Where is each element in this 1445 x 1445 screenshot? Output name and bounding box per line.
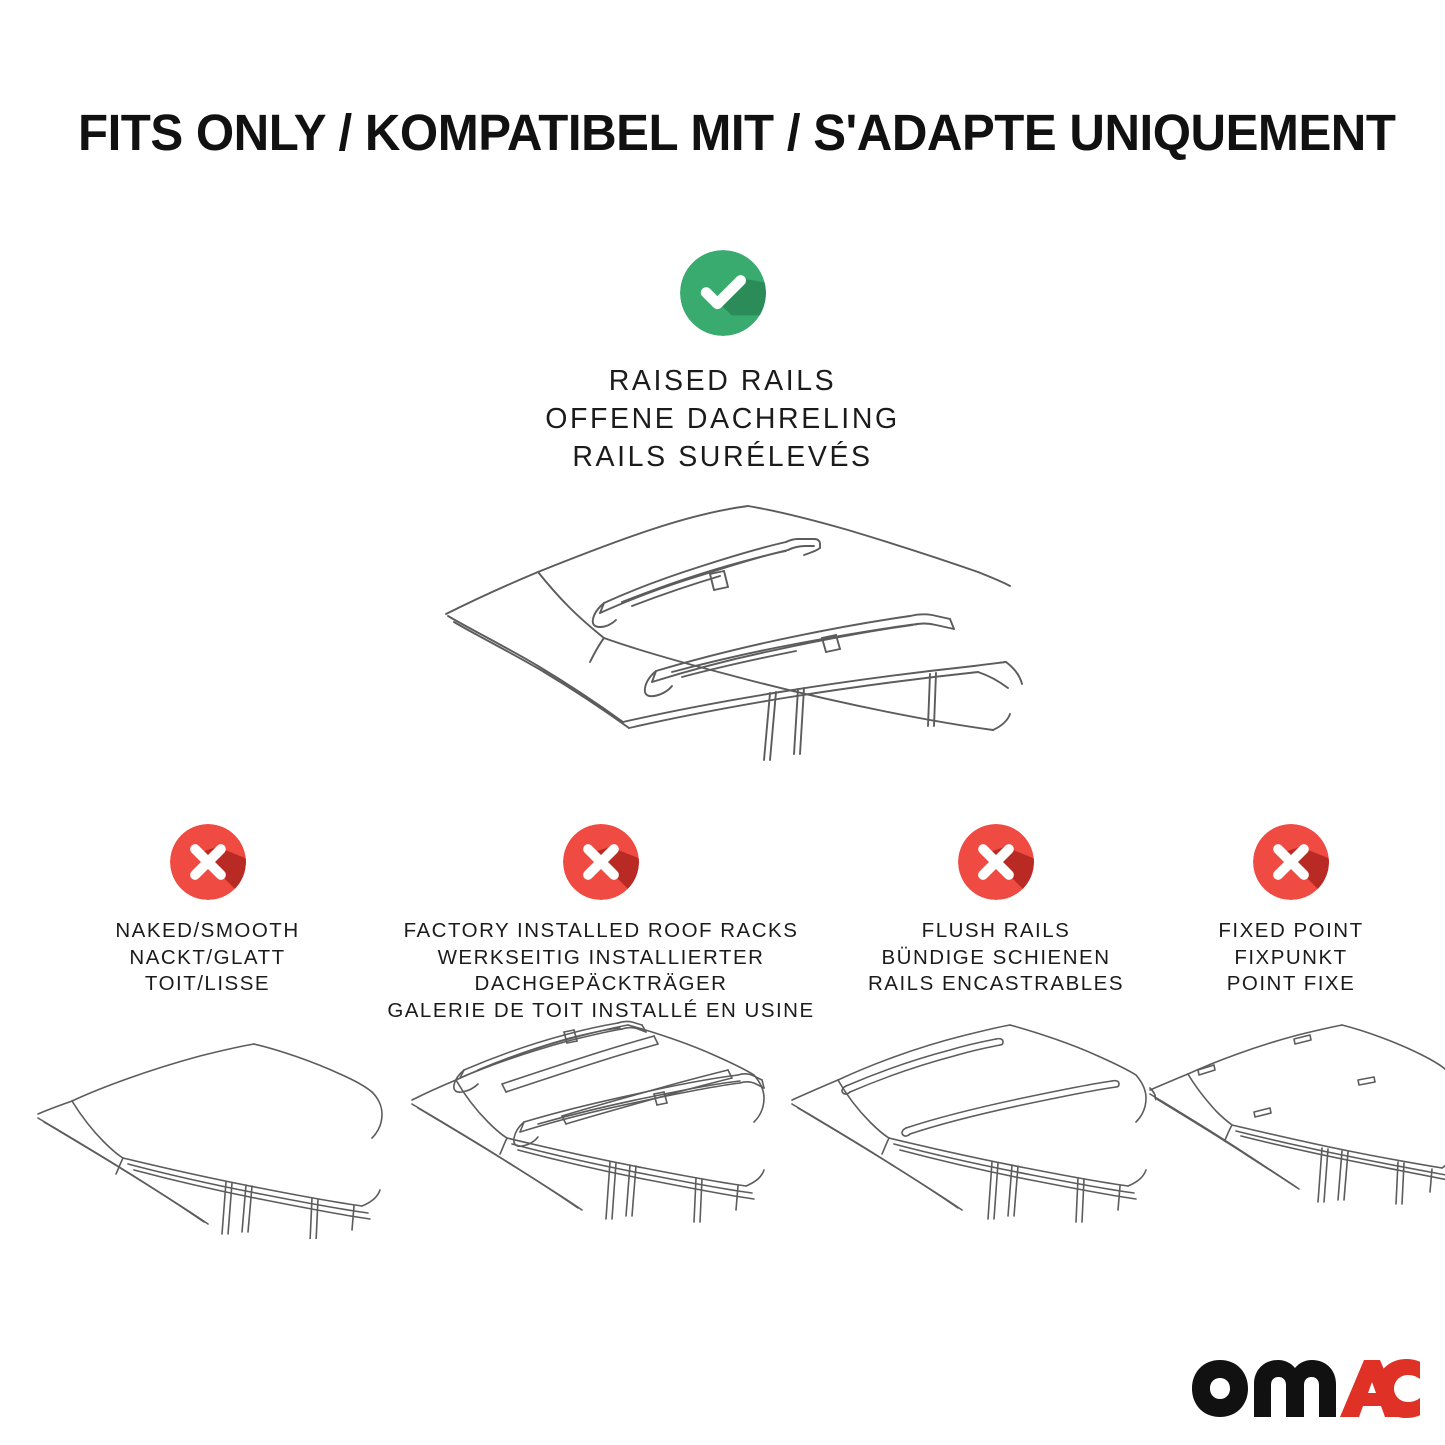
label-line-de: NACKT/GLATT bbox=[35, 945, 380, 972]
incompatible-labels: FIXED POINT FIXPUNKT POINT FIXE bbox=[1162, 918, 1420, 998]
label-line-en: FLUSH RAILS bbox=[822, 918, 1170, 945]
incompatible-item-naked-smooth: NAKED/SMOOTH NACKT/GLATT TOIT/LISSE bbox=[35, 824, 380, 998]
label-line-en: NAKED/SMOOTH bbox=[35, 918, 380, 945]
label-line-de: FIXPUNKT bbox=[1162, 945, 1420, 972]
incompatible-item-flush-rails: FLUSH RAILS BÜNDIGE SCHIENEN RAILS ENCAS… bbox=[822, 824, 1170, 998]
compatible-label-fr: RAILS SURÉLEVÉS bbox=[0, 438, 1445, 476]
label-line-fr: POINT FIXE bbox=[1162, 971, 1420, 998]
car-roof-with-fixed-points-diagram bbox=[1146, 1014, 1445, 1239]
incompatible-item-fixed-point: FIXED POINT FIXPUNKT POINT FIXE bbox=[1162, 824, 1420, 998]
compatible-section: RAISED RAILS OFFENE DACHRELING RAILS SUR… bbox=[0, 250, 1445, 476]
green-check-circle-icon bbox=[680, 250, 766, 336]
label-line-en: FACTORY INSTALLED ROOF RACKS bbox=[372, 918, 830, 945]
incompatible-labels: FACTORY INSTALLED ROOF RACKS WERKSEITIG … bbox=[372, 918, 830, 1024]
incompatible-labels: FLUSH RAILS BÜNDIGE SCHIENEN RAILS ENCAS… bbox=[822, 918, 1170, 998]
compatible-labels: RAISED RAILS OFFENE DACHRELING RAILS SUR… bbox=[0, 362, 1445, 476]
red-x-circle-icon bbox=[958, 824, 1034, 900]
omac-logo bbox=[1190, 1358, 1420, 1420]
red-x-circle-icon bbox=[170, 824, 246, 900]
label-line-fr: TOIT/LISSE bbox=[35, 971, 380, 998]
compatible-label-de: OFFENE DACHRELING bbox=[0, 400, 1445, 438]
red-x-circle-icon bbox=[563, 824, 639, 900]
car-roof-bare-smooth-diagram bbox=[28, 1014, 388, 1239]
incompatible-labels: NAKED/SMOOTH NACKT/GLATT TOIT/LISSE bbox=[35, 918, 380, 998]
car-roof-with-raised-rails-diagram bbox=[418, 486, 1028, 786]
incompatible-item-factory-roof-racks: FACTORY INSTALLED ROOF RACKS WERKSEITIG … bbox=[372, 824, 830, 1024]
red-x-circle-icon bbox=[1253, 824, 1329, 900]
label-line-fr: RAILS ENCASTRABLES bbox=[822, 971, 1170, 998]
compatible-label-en: RAISED RAILS bbox=[0, 362, 1445, 400]
page-title: FITS ONLY / KOMPATIBEL MIT / S'ADAPTE UN… bbox=[78, 104, 1333, 162]
label-line-de-1: WERKSEITIG INSTALLIERTER bbox=[372, 945, 830, 972]
label-line-de: BÜNDIGE SCHIENEN bbox=[822, 945, 1170, 972]
label-line-en: FIXED POINT bbox=[1162, 918, 1420, 945]
car-roof-with-flush-rails-diagram bbox=[784, 1014, 1156, 1239]
label-line-de-2: DACHGEPÄCKTRÄGER bbox=[372, 971, 830, 998]
car-roof-with-factory-crossbars-diagram bbox=[404, 1014, 776, 1239]
